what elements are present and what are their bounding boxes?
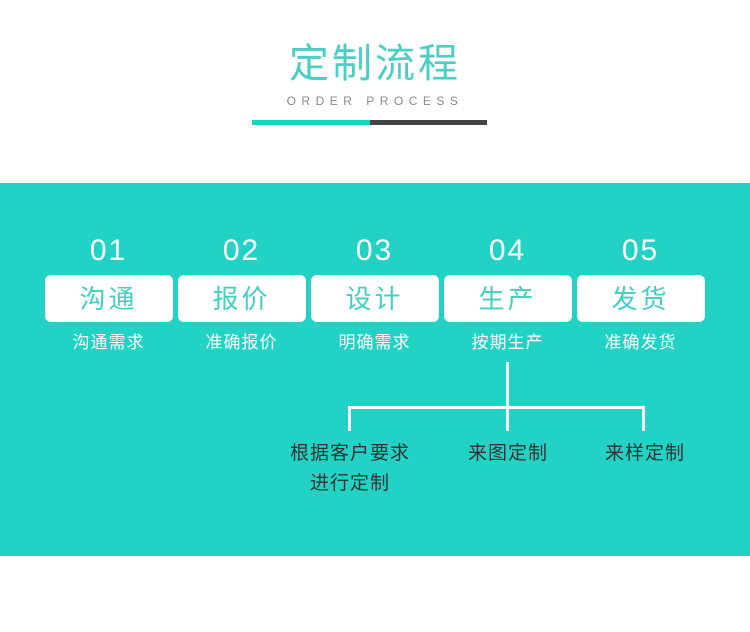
step-box[interactable]: 设计 — [311, 275, 439, 322]
page-subtitle: ORDER PROCESS — [0, 93, 750, 109]
step-number: 03 — [308, 233, 441, 269]
title-divider — [252, 120, 487, 125]
step-box-label: 报价 — [212, 284, 270, 314]
step-box-label: 沟通 — [79, 284, 137, 314]
branch-item-1: 根据客户要求 进行定制 — [255, 439, 445, 499]
connector-drop-right — [642, 406, 645, 431]
connector-drop-middle — [506, 406, 509, 431]
step-caption: 准确发货 — [574, 332, 707, 354]
connector-horizontal-bar — [348, 406, 645, 409]
divider-dark-segment — [370, 120, 487, 125]
step-box-label: 生产 — [478, 284, 536, 314]
step-number: 04 — [441, 233, 574, 269]
branch-item-2-line1: 来图定制 — [428, 439, 588, 469]
step-box-label: 发货 — [611, 284, 669, 314]
connector-drop-left — [348, 406, 351, 431]
step-caption: 沟通需求 — [42, 332, 175, 354]
step-caption: 明确需求 — [308, 332, 441, 354]
process-step-04[interactable]: 04 生产 按期生产 — [441, 233, 574, 354]
branch-item-2: 来图定制 — [428, 439, 588, 469]
page-title: 定制流程 — [0, 40, 750, 88]
process-step-05[interactable]: 05 发货 准确发货 — [574, 233, 707, 354]
divider-accent-segment — [252, 120, 370, 125]
process-steps: 01 沟通 沟通需求 02 报价 准确报价 03 设计 明确需求 — [0, 183, 750, 383]
branch-item-3: 来样定制 — [565, 439, 725, 469]
branch-item-3-line1: 来样定制 — [565, 439, 725, 469]
header-section: 定制流程 ORDER PROCESS — [0, 0, 750, 183]
branch-item-1-line2: 进行定制 — [255, 469, 445, 499]
process-band: 01 沟通 沟通需求 02 报价 准确报价 03 设计 明确需求 — [0, 183, 750, 556]
process-step-01[interactable]: 01 沟通 沟通需求 — [42, 233, 175, 354]
step-box[interactable]: 报价 — [178, 275, 306, 322]
step-box-label: 设计 — [345, 284, 403, 314]
step-caption: 准确报价 — [175, 332, 308, 354]
process-step-02[interactable]: 02 报价 准确报价 — [175, 233, 308, 354]
customization-process-infographic: 定制流程 ORDER PROCESS 01 沟通 沟通需求 02 报价 准确报价 — [0, 0, 750, 632]
step-number: 02 — [175, 233, 308, 269]
branch-item-1-line1: 根据客户要求 — [255, 439, 445, 469]
step-box[interactable]: 沟通 — [45, 275, 173, 322]
step-number: 05 — [574, 233, 707, 269]
process-step-03[interactable]: 03 设计 明确需求 — [308, 233, 441, 354]
step-box[interactable]: 生产 — [444, 275, 572, 322]
step-caption: 按期生产 — [441, 332, 574, 354]
step-number: 01 — [42, 233, 175, 269]
step-box[interactable]: 发货 — [577, 275, 705, 322]
